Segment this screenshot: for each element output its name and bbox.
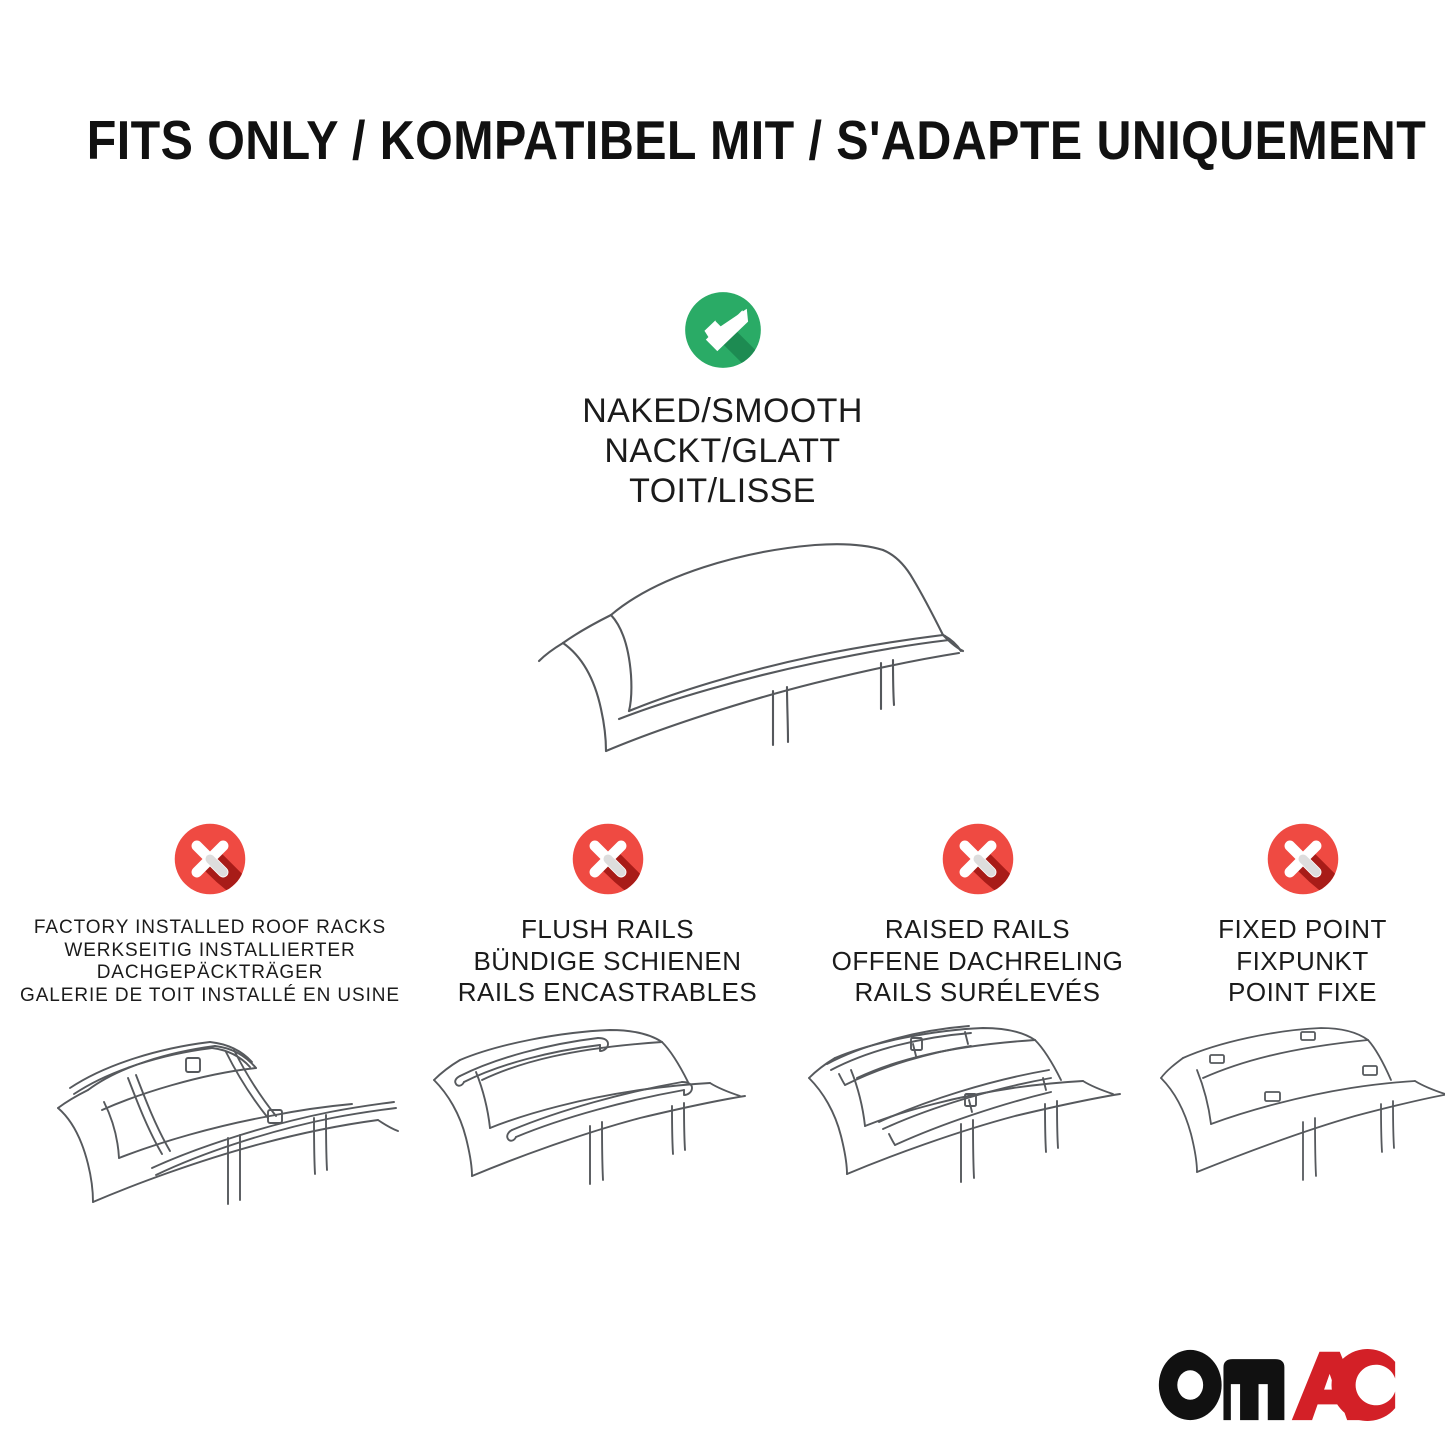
fitment-compatibility-infographic: FITS ONLY / KOMPATIBEL MIT / S'ADAPTE UN… — [0, 0, 1445, 1445]
label-line-1: RAISED RAILS — [832, 914, 1124, 945]
label-line-3: DACHGEPÄCKTRÄGER — [20, 962, 400, 985]
label-line-3: RAILS SURÉLEVÉS — [832, 977, 1124, 1008]
incompatible-item-raised-rails: RAISED RAILS OFFENE DACHRELING RAILS SUR… — [795, 818, 1160, 1233]
omac-logo: OMAC — [1157, 1349, 1397, 1421]
car-roof-factory-roof-racks-illustration — [10, 1018, 410, 1233]
incompatible-item-factory-roof-racks: FACTORY INSTALLED ROOF RACKS WERKSEITIG … — [0, 818, 420, 1233]
label-line-3: RAILS ENCASTRABLES — [458, 977, 757, 1008]
label-line-2: FIXPUNKT — [1218, 946, 1387, 977]
compatible-label-fr: TOIT/LISSE — [582, 472, 863, 512]
incompatible-item-fixed-point: FIXED POINT FIXPUNKT POINT FIXE — [1160, 818, 1445, 1233]
label-line-2: WERKSEITIG INSTALLIERTER — [20, 940, 400, 963]
label-line-1: FLUSH RAILS — [458, 914, 757, 945]
label-line-2: OFFENE DACHRELING — [832, 946, 1124, 977]
incompatible-item-flush-rails: FLUSH RAILS BÜNDIGE SCHIENEN RAILS ENCAS… — [420, 818, 795, 1233]
label-line-3: POINT FIXE — [1218, 977, 1387, 1008]
x-circle-icon — [1262, 818, 1344, 900]
compatible-section: NAKED/SMOOTH NACKT/GLATT TOIT/LISSE — [0, 286, 1445, 773]
page-title: FITS ONLY / KOMPATIBEL MIT / S'ADAPTE UN… — [87, 108, 1359, 172]
compatible-label-de: NACKT/GLATT — [582, 432, 863, 472]
incompatible-labels-fixed-point: FIXED POINT FIXPUNKT POINT FIXE — [1218, 912, 1387, 1008]
incompatible-labels-raised-rails: RAISED RAILS OFFENE DACHRELING RAILS SUR… — [832, 912, 1124, 1008]
compatible-labels: NAKED/SMOOTH NACKT/GLATT TOIT/LISSE — [582, 392, 863, 511]
car-roof-naked-smooth-illustration — [443, 523, 1003, 773]
label-line-1: FIXED POINT — [1218, 914, 1387, 945]
check-circle-icon — [679, 286, 767, 374]
label-line-1: FACTORY INSTALLED ROOF RACKS — [20, 917, 400, 940]
compatible-label-en: NAKED/SMOOTH — [582, 392, 863, 432]
incompatible-labels-flush-rails: FLUSH RAILS BÜNDIGE SCHIENEN RAILS ENCAS… — [458, 912, 757, 1008]
x-circle-icon — [567, 818, 649, 900]
incompatible-labels-factory-roof-racks: FACTORY INSTALLED ROOF RACKS WERKSEITIG … — [20, 912, 400, 1008]
car-roof-raised-rails-illustration — [793, 1018, 1163, 1233]
car-roof-fixed-point-illustration — [1153, 1018, 1445, 1233]
car-roof-flush-rails-illustration — [420, 1018, 795, 1233]
incompatible-section: FACTORY INSTALLED ROOF RACKS WERKSEITIG … — [0, 818, 1445, 1233]
x-circle-icon — [937, 818, 1019, 900]
label-line-2: BÜNDIGE SCHIENEN — [458, 946, 757, 977]
x-circle-icon — [169, 818, 251, 900]
label-line-4: GALERIE DE TOIT INSTALLÉ EN USINE — [20, 985, 400, 1008]
